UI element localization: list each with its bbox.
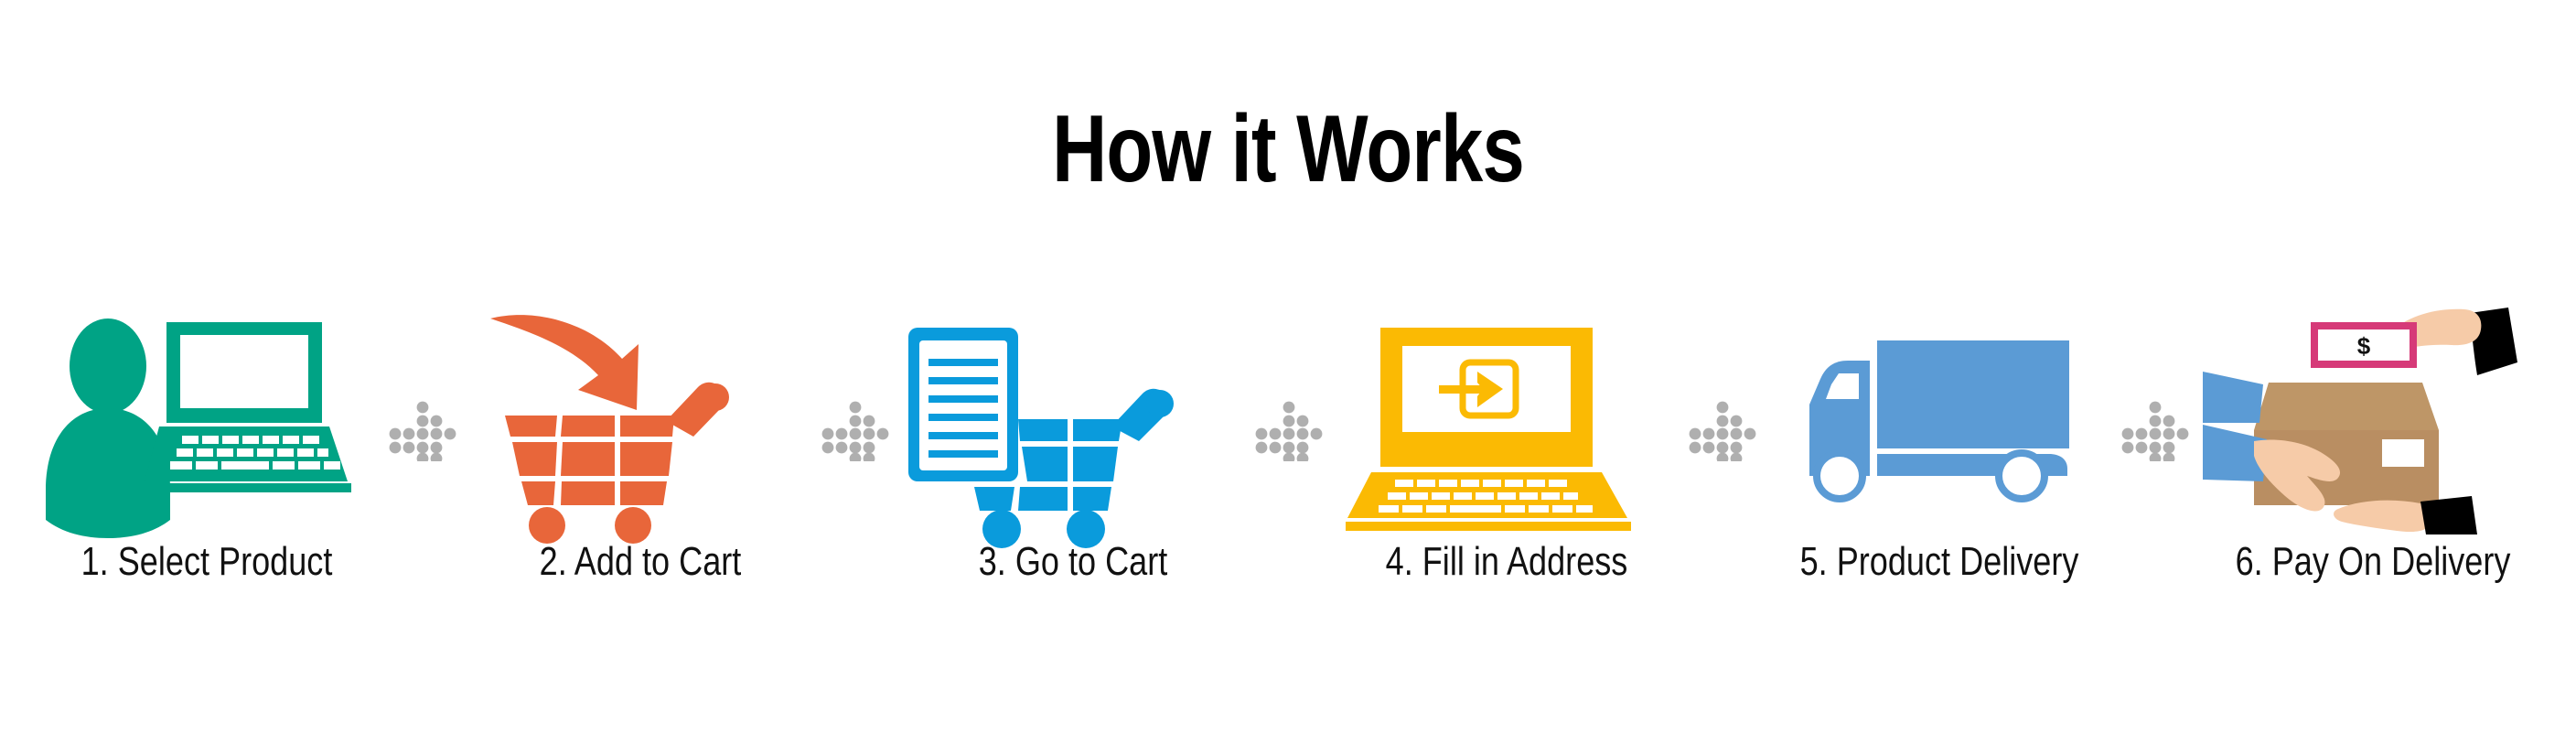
hands-exchange-box-cash-icon: $ — [2203, 302, 2543, 540]
step-1-artwork — [37, 302, 377, 540]
step-3-label: 3. Go to Cart — [934, 538, 1213, 586]
arrow-4-to-5 — [1684, 302, 1763, 641]
money-dollar-symbol: $ — [2357, 332, 2371, 360]
person-with-laptop-icon — [37, 302, 377, 540]
dotted-arrow-right-icon — [386, 401, 461, 461]
arrow-2-to-3 — [817, 302, 896, 641]
step-5-product-delivery[interactable]: 5. Product Delivery — [1769, 302, 2109, 641]
step-3-artwork — [903, 302, 1243, 540]
step-2-add-to-cart[interactable]: 2. Add to Cart — [470, 302, 810, 641]
dotted-arrow-right-icon — [819, 401, 894, 461]
step-6-pay-on-delivery[interactable]: $ — [2203, 302, 2543, 641]
dotted-arrow-right-icon — [2119, 401, 2194, 461]
cart-with-arrow-icon — [470, 302, 810, 540]
how-it-works-infographic: How it Works — [0, 0, 2576, 745]
laptop-login-icon — [1336, 302, 1677, 540]
step-1-select-product[interactable]: 1. Select Product — [37, 302, 377, 641]
dotted-arrow-right-icon — [1686, 401, 1761, 461]
step-2-artwork — [470, 302, 810, 540]
arrow-3-to-4 — [1250, 302, 1329, 641]
delivery-truck-icon — [1769, 302, 2109, 540]
page-title: How it Works — [258, 99, 2319, 200]
step-1-label: 1. Select Product — [67, 538, 346, 586]
arrow-1-to-2 — [384, 302, 463, 641]
step-5-label: 5. Product Delivery — [1800, 538, 2079, 586]
step-4-artwork — [1336, 302, 1677, 540]
step-4-label: 4. Fill in Address — [1367, 538, 1646, 586]
document-with-cart-icon — [903, 302, 1243, 540]
step-3-go-to-cart[interactable]: 3. Go to Cart — [903, 302, 1243, 641]
dotted-arrow-right-icon — [1252, 401, 1327, 461]
steps-row: 1. Select Product — [37, 302, 2543, 641]
arrow-5-to-6 — [2117, 302, 2195, 641]
step-6-label: 6. Pay On Delivery — [2233, 538, 2512, 586]
step-5-artwork — [1769, 302, 2109, 540]
step-4-fill-in-address[interactable]: 4. Fill in Address — [1336, 302, 1677, 641]
step-2-label: 2. Add to Cart — [500, 538, 779, 586]
step-6-artwork: $ — [2203, 302, 2543, 540]
